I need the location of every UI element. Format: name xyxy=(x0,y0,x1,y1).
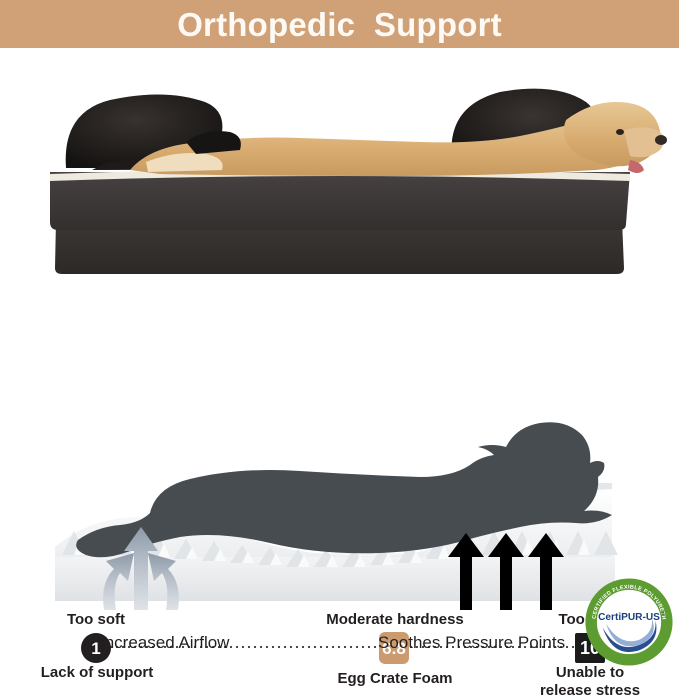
bed-mattress xyxy=(50,172,630,230)
certipur-us-badge: CONTAINS CERTIFIED FLEXIBLE POLYURETHANE… xyxy=(585,578,673,666)
caption-increased-airflow: Increased Airflow xyxy=(100,633,229,653)
scale-middle-bottom-label: Egg Crate Foam xyxy=(315,670,475,688)
dog-nose xyxy=(655,135,667,145)
scale-left-bottom-label: Lack of support xyxy=(22,664,172,682)
badge-trademark: ® xyxy=(662,611,665,616)
scale-left-top-label: Too soft xyxy=(34,611,158,629)
scale-right-bottom-label-line2: release stress xyxy=(522,682,658,700)
dog-eye xyxy=(616,129,624,135)
pressure-arrows xyxy=(448,533,564,610)
caption-soothes-pressure-points: Soothes Pressure Points xyxy=(378,633,565,653)
scale-right-bottom-label-line1: Unable to xyxy=(522,664,658,682)
orthopedic-support-infographic: Orthopedic Support xyxy=(0,0,679,668)
scale-middle-top-label: Moderate hardness xyxy=(306,611,484,629)
header-banner: Orthopedic Support xyxy=(0,0,679,48)
badge-wordmark: CertiPUR-US xyxy=(598,612,660,623)
dog-tongue xyxy=(628,160,644,173)
hardness-scale: Too soft 1 Lack of support Moderate hard… xyxy=(0,300,679,405)
page-title: Orthopedic Support xyxy=(0,0,679,48)
product-photo xyxy=(0,50,679,300)
foam-cutaway-diagram xyxy=(0,405,679,610)
